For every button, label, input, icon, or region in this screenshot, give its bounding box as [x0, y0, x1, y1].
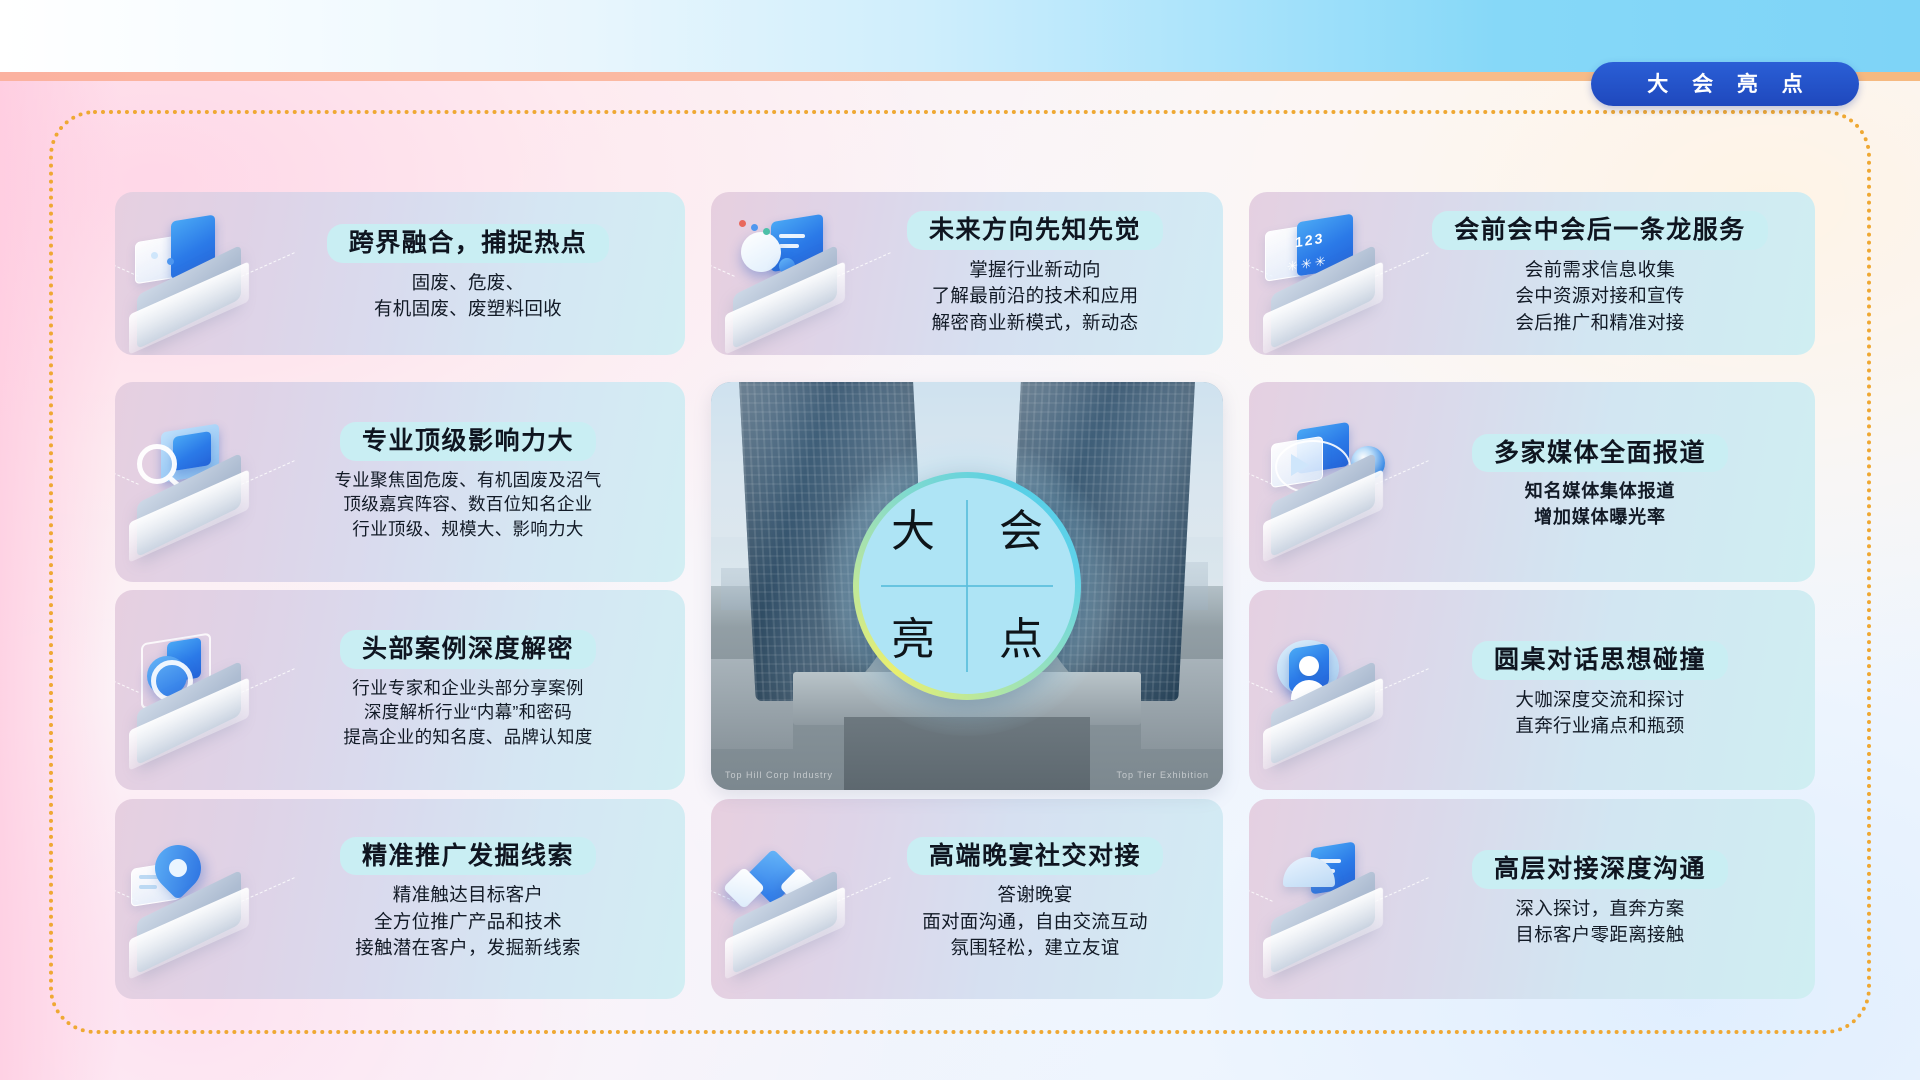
- cubes-network-icon: [711, 799, 861, 999]
- card-subtitle-line: 答谢晚宴: [997, 882, 1072, 908]
- card-text-case-decryption: 头部案例深度解密 行业专家和企业头部分享案例 深度解析行业“内幕”和密码 提高企…: [265, 630, 685, 750]
- card-text-executive-communication: 高层对接深度沟通 深入探讨，直奔方案 目标客户零距离接触: [1399, 850, 1815, 948]
- card-text-top-influence: 专业顶级影响力大 专业聚焦固危废、有机固废及沼气 顶级嘉宾阵容、数百位知名企业 …: [265, 422, 685, 542]
- card-subtitle-line: 解密商业新模式，新动态: [932, 310, 1139, 336]
- emblem-char: 亮: [859, 586, 967, 694]
- card-text-cross-border-integration: 跨界融合，捕捉热点 固废、危废、 有机固废、废塑料回收: [265, 224, 685, 322]
- emblem-divider-horizontal: [881, 585, 1053, 587]
- laptop-phone-icon: [115, 192, 265, 355]
- photo-watermark-left: Top Hill Corp Industry: [725, 770, 833, 780]
- card-subtitle-line: 会前需求信息收集: [1525, 257, 1675, 283]
- card-executive-communication[interactable]: 高层对接深度沟通 深入探讨，直奔方案 目标客户零距离接触: [1249, 799, 1815, 999]
- person-disc-icon: [1249, 590, 1399, 790]
- emblem-char: 大: [859, 478, 967, 586]
- card-subtitle-line: 氛围轻松，建立友谊: [950, 935, 1119, 961]
- card-subtitle-line: 深入探讨，直奔方案: [1515, 896, 1684, 922]
- card-subtitle-line: 全方位推广产品和技术: [374, 909, 562, 935]
- card-title-pill: 跨界融合，捕捉热点: [327, 224, 610, 263]
- center-emblem: 大 会 亮 点: [853, 472, 1081, 700]
- card-title-pill: 多家媒体全面报道: [1472, 434, 1728, 473]
- card-subtitle-line: 接触潜在客户，发掘新线索: [355, 935, 581, 961]
- monitor-speaker-icon: [711, 192, 861, 355]
- header-badge[interactable]: 大 会 亮 点: [1591, 62, 1859, 106]
- card-title-pill: 会前会中会后一条龙服务: [1432, 211, 1768, 250]
- card-subtitle-line: 顶级嘉宾阵容、数百位知名企业: [343, 492, 592, 517]
- card-subtitle-line: 面对面沟通，自由交流互动: [922, 909, 1148, 935]
- card-subtitle-line: 行业专家和企业头部分享案例: [352, 676, 583, 701]
- card-text-gala-networking: 高端晚宴社交对接 答谢晚宴 面对面沟通，自由交流互动 氛围轻松，建立友谊: [861, 837, 1223, 962]
- highlights-grid: 跨界融合，捕捉热点 固废、危废、 有机固废、废塑料回收: [115, 192, 1815, 1002]
- center-feature-image: Top Hill Corp Industry Top Tier Exhibiti…: [711, 382, 1223, 790]
- numbers-stars-screen-icon: 123 ✳✳✳: [1249, 192, 1399, 355]
- card-title-pill: 专业顶级影响力大: [340, 422, 596, 461]
- card-subtitle-line: 增加媒体曝光率: [1534, 505, 1666, 531]
- search-chart-icon: [115, 382, 265, 582]
- card-text-media-coverage: 多家媒体全面报道 知名媒体集体报道 增加媒体曝光率: [1399, 434, 1815, 531]
- emblem-char: 点: [967, 586, 1075, 694]
- cube-fingerprint-icon: [115, 590, 265, 790]
- card-subtitle-line: 知名媒体集体报道: [1525, 479, 1675, 505]
- card-text-precise-promotion: 精准推广发掘线索 精准触达目标客户 全方位推广产品和技术 接触潜在客户，发掘新线…: [265, 837, 685, 962]
- card-subtitle-line: 精准触达目标客户: [393, 882, 543, 908]
- card-subtitle-line: 固废、危废、: [412, 270, 525, 296]
- card-gala-networking[interactable]: 高端晚宴社交对接 答谢晚宴 面对面沟通，自由交流互动 氛围轻松，建立友谊: [711, 799, 1223, 999]
- card-subtitle-line: 会后推广和精准对接: [1515, 310, 1684, 336]
- card-subtitle-line: 了解最前沿的技术和应用: [932, 283, 1139, 309]
- dome-screen-icon: [1249, 799, 1399, 999]
- card-subtitle-line: 直奔行业痛点和瓶颈: [1515, 713, 1684, 739]
- card-title-pill: 未来方向先知先觉: [907, 211, 1163, 250]
- card-text-roundtable-dialogue: 圆桌对话思想碰撞 大咖深度交流和探讨 直奔行业痛点和瓶颈: [1399, 641, 1815, 739]
- emblem-char: 会: [967, 478, 1075, 586]
- video-camera-icon: [1249, 382, 1399, 582]
- card-text-future-direction: 未来方向先知先觉 掌握行业新动向 了解最前沿的技术和应用 解密商业新模式，新动态: [861, 211, 1223, 336]
- card-future-direction[interactable]: 未来方向先知先觉 掌握行业新动向 了解最前沿的技术和应用 解密商业新模式，新动态: [711, 192, 1223, 355]
- card-subtitle-line: 有机固废、废塑料回收: [374, 296, 562, 322]
- card-title-pill: 高端晚宴社交对接: [907, 837, 1163, 876]
- card-subtitle-line: 大咖深度交流和探讨: [1515, 687, 1684, 713]
- card-subtitle-line: 提高企业的知名度、品牌认知度: [343, 725, 592, 750]
- card-subtitle-line: 深度解析行业“内幕”和密码: [364, 700, 572, 725]
- location-pin-chat-icon: [115, 799, 265, 999]
- card-title-pill: 精准推广发掘线索: [340, 837, 596, 876]
- card-cross-border-integration[interactable]: 跨界融合，捕捉热点 固废、危废、 有机固废、废塑料回收: [115, 192, 685, 355]
- card-title-pill: 圆桌对话思想碰撞: [1472, 641, 1728, 680]
- card-full-service[interactable]: 123 ✳✳✳ 会前会中会后一条龙服务 会前需求信息收集 会中资源对接和宣传 会…: [1249, 192, 1815, 355]
- card-precise-promotion[interactable]: 精准推广发掘线索 精准触达目标客户 全方位推广产品和技术 接触潜在客户，发掘新线…: [115, 799, 685, 999]
- card-media-coverage[interactable]: 多家媒体全面报道 知名媒体集体报道 增加媒体曝光率: [1249, 382, 1815, 582]
- card-case-decryption[interactable]: 头部案例深度解密 行业专家和企业头部分享案例 深度解析行业“内幕”和密码 提高企…: [115, 590, 685, 790]
- card-subtitle-line: 掌握行业新动向: [969, 257, 1101, 283]
- card-title-pill: 头部案例深度解密: [340, 630, 596, 669]
- card-subtitle-line: 行业顶级、规模大、影响力大: [352, 517, 583, 542]
- card-title-pill: 高层对接深度沟通: [1472, 850, 1728, 889]
- poster-stage: 大 会 亮 点 跨界融合，捕捉热点 固废、危废、 有机固废、废塑料: [0, 0, 1920, 1080]
- card-subtitle-line: 会中资源对接和宣传: [1515, 283, 1684, 309]
- card-subtitle-line: 目标客户零距离接触: [1515, 922, 1684, 948]
- header-badge-label: 大 会 亮 点: [1638, 74, 1812, 95]
- card-subtitle-line: 专业聚焦固危废、有机固废及沼气: [335, 468, 602, 493]
- card-top-influence[interactable]: 专业顶级影响力大 专业聚焦固危废、有机固废及沼气 顶级嘉宾阵容、数百位知名企业 …: [115, 382, 685, 582]
- photo-watermark-right: Top Tier Exhibition: [1116, 770, 1209, 780]
- card-roundtable-dialogue[interactable]: 圆桌对话思想碰撞 大咖深度交流和探讨 直奔行业痛点和瓶颈: [1249, 590, 1815, 790]
- card-text-full-service: 会前会中会后一条龙服务 会前需求信息收集 会中资源对接和宣传 会后推广和精准对接: [1399, 211, 1815, 336]
